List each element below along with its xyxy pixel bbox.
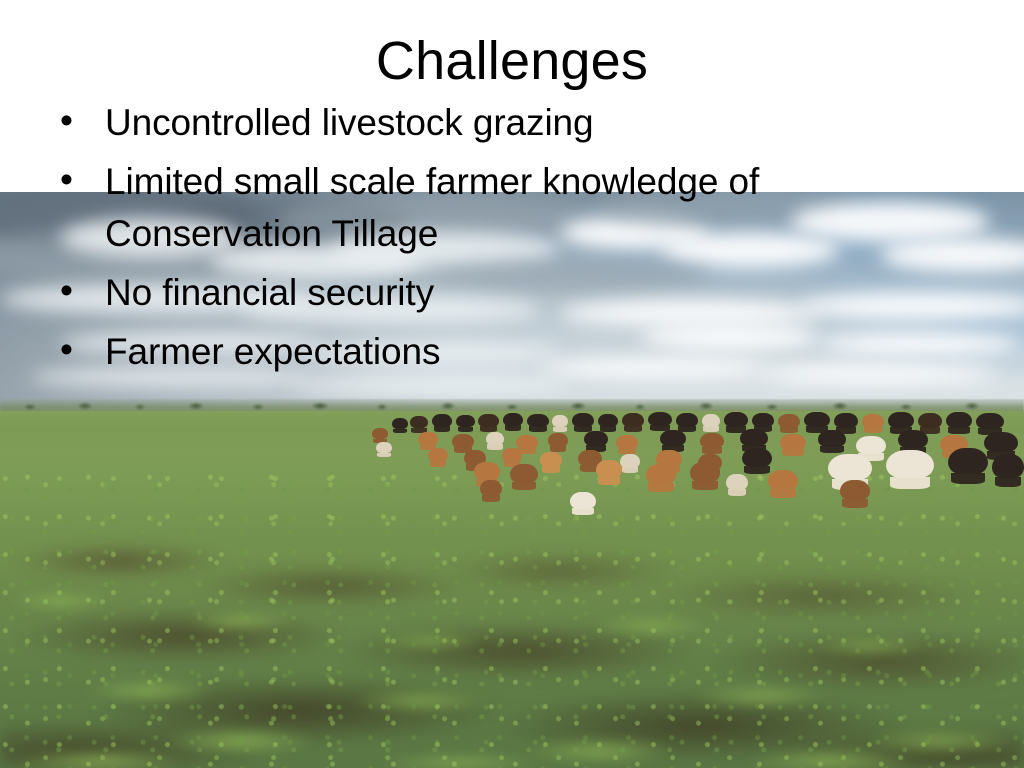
cow: [552, 415, 568, 427]
list-item: • Farmer expectations: [52, 326, 952, 378]
cow: [948, 448, 988, 474]
cow-calf: [570, 492, 596, 509]
bullet-point-icon: •: [52, 326, 105, 374]
cow: [620, 454, 640, 468]
cow: [418, 432, 438, 445]
cow: [946, 412, 972, 428]
bullet-point-icon: •: [52, 156, 105, 204]
cow: [976, 413, 1004, 429]
cow: [456, 415, 475, 427]
cow: [548, 433, 568, 447]
cow: [702, 414, 720, 427]
cow: [742, 448, 772, 467]
cow: [516, 435, 538, 449]
cow: [834, 413, 858, 428]
cow: [428, 448, 448, 462]
cow: [740, 429, 768, 446]
cow: [572, 413, 594, 427]
bullet-text: Limited small scale farmer knowledge of …: [105, 156, 952, 260]
cow: [502, 448, 522, 462]
cow: [372, 428, 388, 439]
bullet-point-icon: •: [52, 97, 105, 145]
cow: [752, 413, 774, 427]
bullet-text: Uncontrolled livestock grazing: [105, 97, 594, 149]
cow: [432, 414, 452, 427]
bullet-text: No financial security: [105, 267, 434, 319]
cow: [503, 413, 523, 426]
cow: [616, 435, 638, 449]
cow: [768, 470, 798, 490]
cow: [510, 464, 538, 483]
bullet-text: Farmer expectations: [105, 326, 440, 378]
cow: [392, 418, 408, 429]
cow: [478, 414, 499, 427]
cow: [700, 433, 724, 448]
bullet-point-icon: •: [52, 267, 105, 315]
bullet-list: • Uncontrolled livestock grazing • Limit…: [52, 97, 952, 385]
list-item: • Limited small scale farmer knowledge o…: [52, 156, 952, 260]
cow: [622, 413, 644, 427]
list-item: • No financial security: [52, 267, 952, 319]
cow: [780, 434, 806, 450]
cow: [596, 460, 622, 478]
cow: [992, 454, 1024, 478]
cow: [646, 464, 676, 484]
cow: [648, 412, 672, 426]
cow: [840, 480, 870, 500]
cow: [410, 416, 428, 428]
cow: [888, 412, 914, 428]
cow: [452, 434, 474, 448]
cow: [856, 436, 886, 454]
cow: [726, 474, 748, 490]
cow: [480, 480, 502, 496]
cow: [486, 432, 504, 445]
cow: [660, 430, 686, 446]
cow: [778, 414, 800, 428]
cow: [828, 454, 872, 480]
cow: [862, 414, 884, 428]
cow: [724, 412, 748, 427]
cow: [898, 430, 928, 448]
cow: [886, 450, 934, 478]
cow: [984, 432, 1018, 452]
page-title: Challenges: [0, 33, 1024, 90]
cow: [376, 442, 392, 453]
cow: [474, 462, 500, 480]
cow: [598, 414, 618, 427]
cow: [818, 430, 846, 447]
presentation-slide: Challenges • Uncontrolled livestock graz…: [0, 0, 1024, 768]
cow: [584, 431, 608, 446]
cow: [527, 414, 549, 427]
cow: [540, 452, 562, 467]
cow: [676, 413, 698, 427]
list-item: • Uncontrolled livestock grazing: [52, 97, 952, 149]
cow: [918, 413, 942, 428]
cow: [690, 462, 720, 482]
cow: [804, 412, 830, 427]
